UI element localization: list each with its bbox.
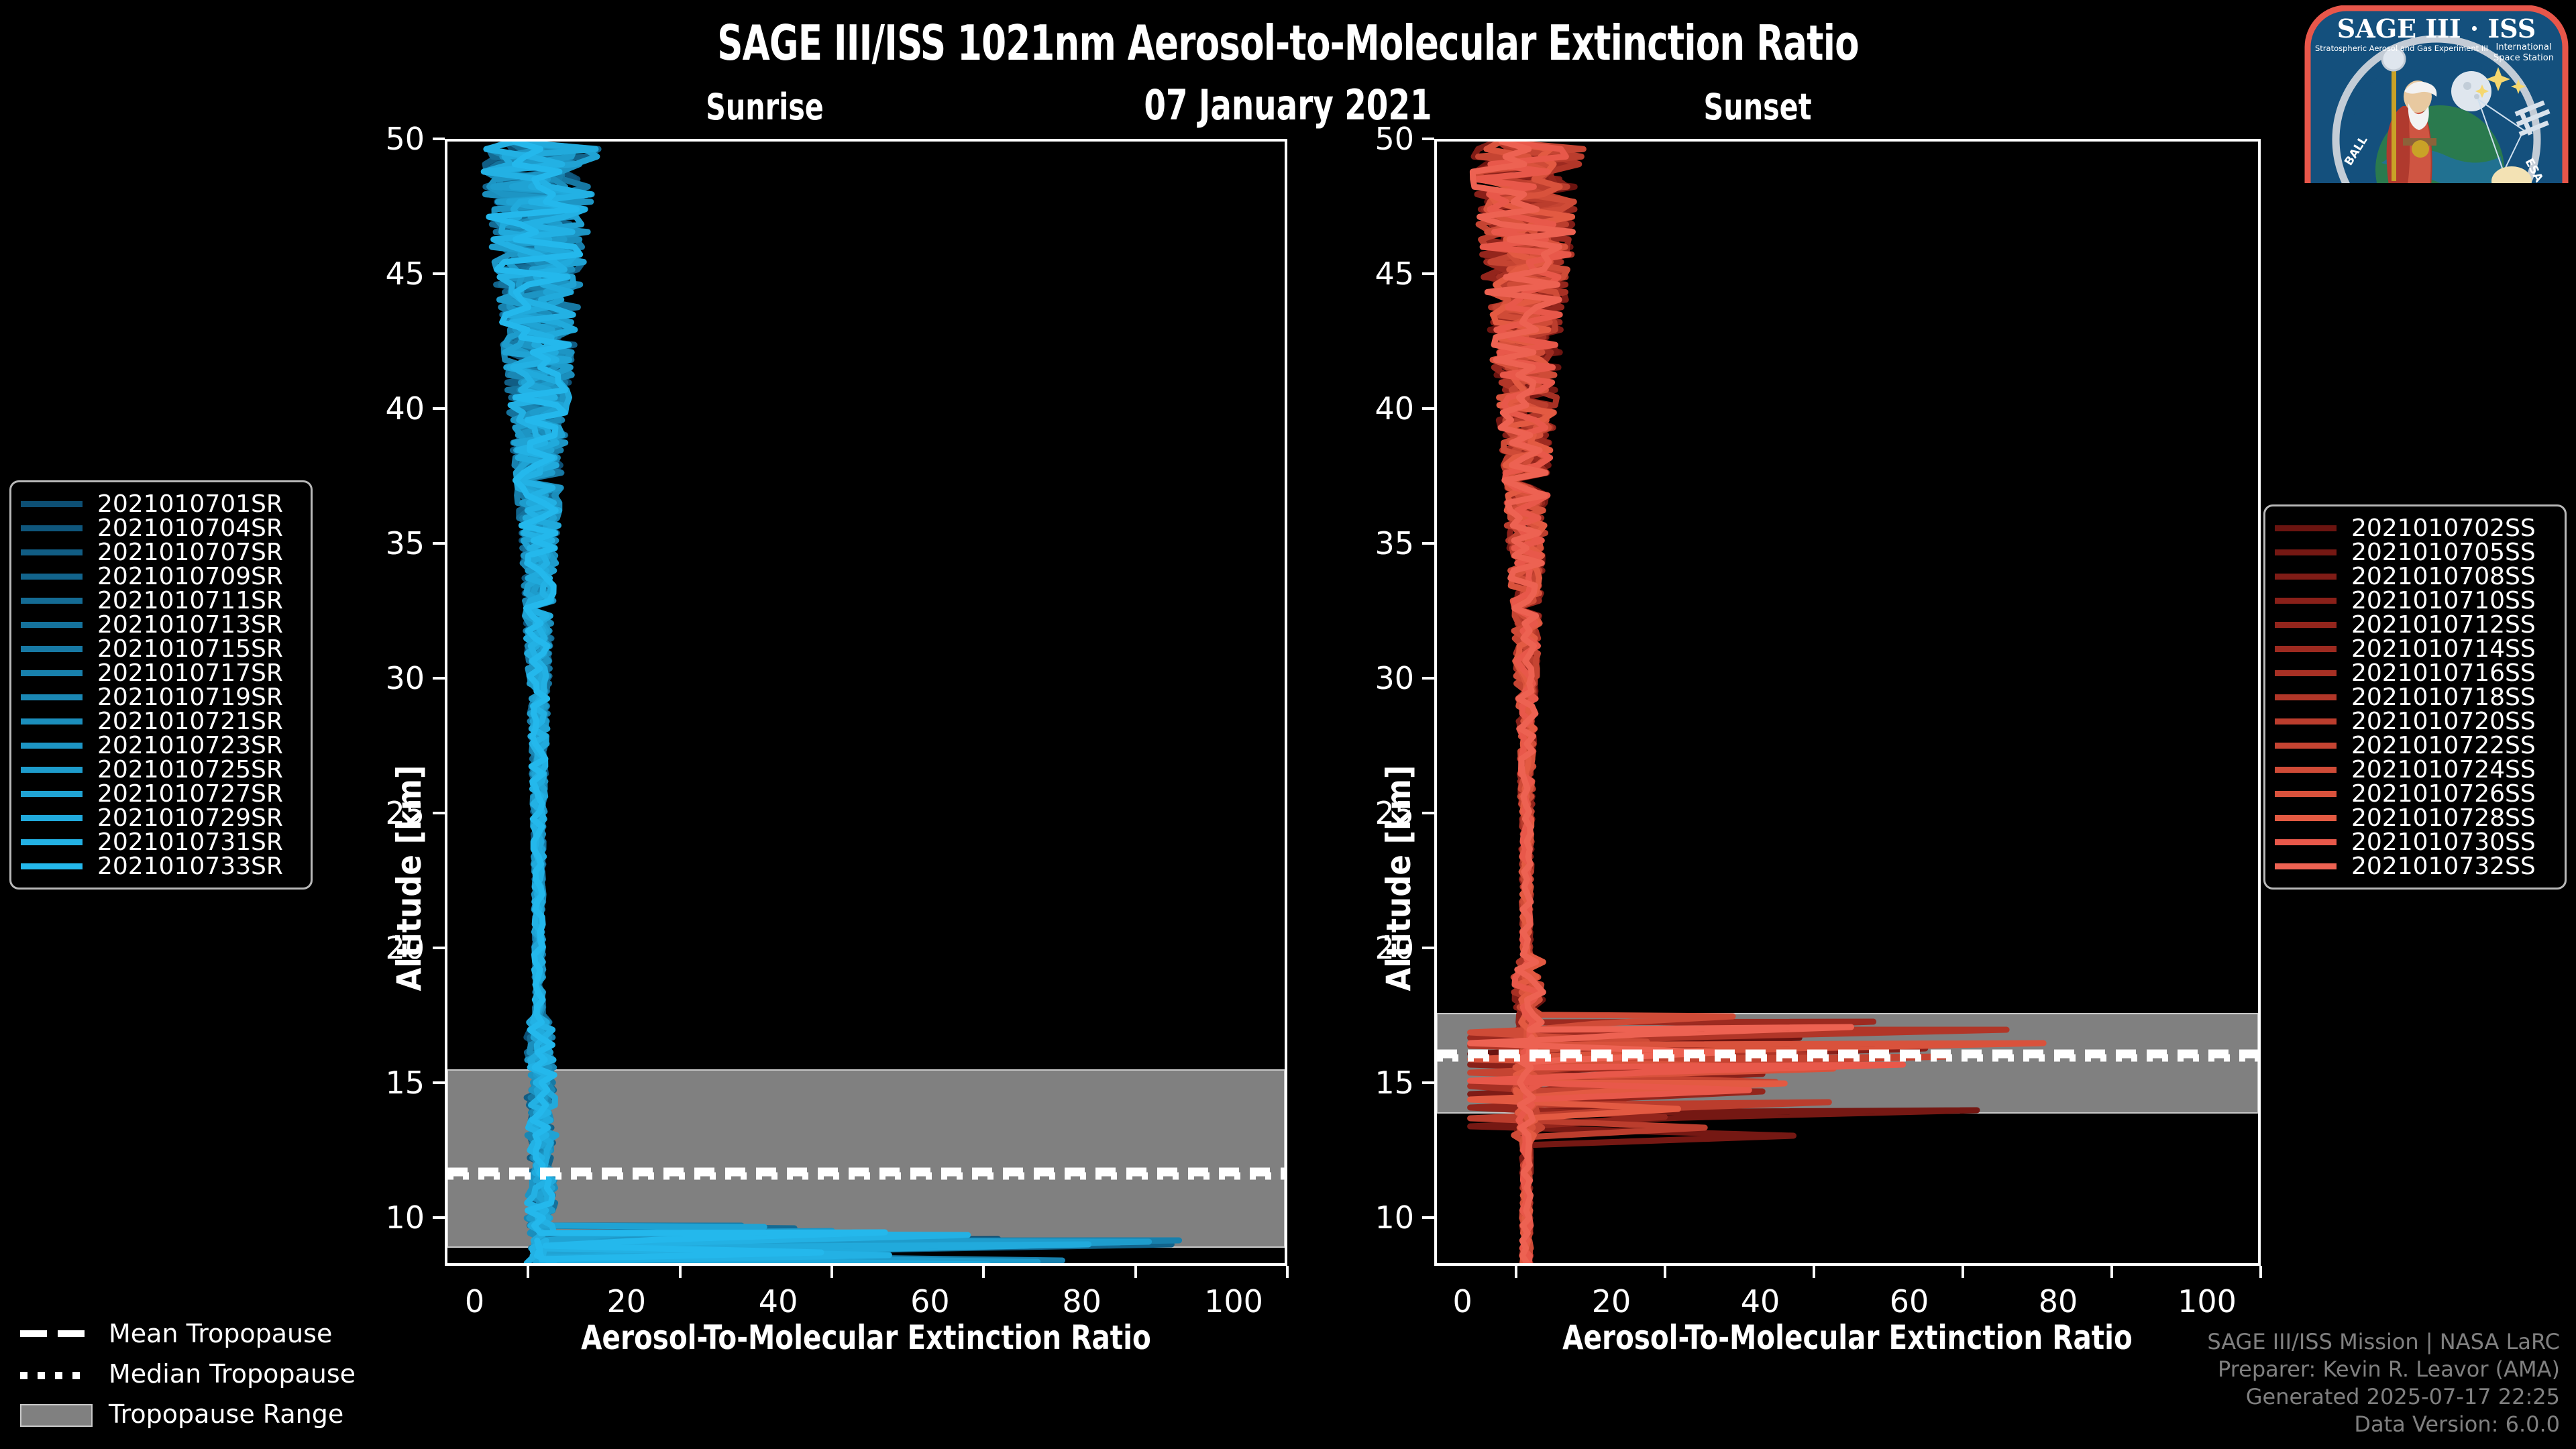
legend-item-label: 2021010701SR (97, 490, 283, 518)
sage-iii-iss-mission-patch-logo: SAGE III · ISS Stratospheric Aerosol and… (2302, 5, 2571, 183)
legend-color-swatch (2275, 598, 2337, 604)
y-tick-label-35: 35 (1327, 525, 1414, 561)
sunset-legend-item[interactable]: 2021010714SS (2275, 637, 2553, 661)
y-tickmark (1422, 677, 1434, 680)
y-tick-label-30: 30 (1327, 660, 1414, 696)
legend-color-swatch (21, 767, 83, 773)
credit-mission: SAGE III/ISS Mission | NASA LaRC (2207, 1328, 2560, 1356)
sunrise-legend-item[interactable]: 2021010725SR (21, 757, 299, 782)
sunset-legend-item[interactable]: 2021010732SS (2275, 854, 2553, 878)
sunset-legend-item[interactable]: 2021010720SS (2275, 709, 2553, 733)
tropopause-key: Mean Tropopause Median Tropopause Tropop… (20, 1313, 436, 1434)
credit-preparer: Preparer: Kevin R. Leavor (AMA) (2207, 1356, 2560, 1383)
y-tickmark (1422, 1216, 1434, 1219)
sunrise-legend-item[interactable]: 2021010711SR (21, 588, 299, 612)
legend-item-label: 2021010713SR (97, 611, 283, 639)
y-tickmark (433, 1081, 445, 1084)
legend-color-swatch (21, 863, 83, 869)
legend-item-label: 2021010709SR (97, 563, 283, 590)
tropopause-key-median: Median Tropopause (20, 1354, 436, 1394)
tropopause-key-range-label: Tropopause Range (109, 1399, 343, 1429)
svg-text:International: International (2496, 42, 2552, 52)
legend-color-swatch (2275, 574, 2337, 580)
sunrise-legend: 2021010701SR2021010704SR2021010707SR2021… (9, 480, 313, 890)
legend-color-swatch (2275, 718, 2337, 724)
range-swatch-icon (20, 1404, 93, 1424)
sunrise-legend-item[interactable]: 2021010715SR (21, 637, 299, 661)
y-tick-label-10: 10 (1327, 1199, 1414, 1236)
legend-color-swatch (2275, 549, 2337, 555)
legend-color-swatch (2275, 670, 2337, 676)
legend-color-swatch (21, 815, 83, 821)
x-tick-label-80: 80 (2004, 1283, 2112, 1320)
sunset-legend-item[interactable]: 2021010730SS (2275, 830, 2553, 854)
sunrise-legend-item[interactable]: 2021010721SR (21, 709, 299, 733)
x-tick-label-100: 100 (2153, 1283, 2261, 1320)
sunrise-x-axis-title: Aerosol-To-Molecular Extinction Ratio (487, 1318, 1245, 1357)
y-tickmark (1422, 947, 1434, 949)
sunrise-legend-item[interactable]: 2021010729SR (21, 806, 299, 830)
legend-color-swatch (21, 646, 83, 652)
legend-item-label: 2021010718SS (2351, 684, 2536, 711)
legend-item-label: 2021010727SR (97, 780, 283, 808)
y-tickmark (433, 677, 445, 680)
legend-item-label: 2021010716SS (2351, 659, 2536, 687)
legend-item-label: 2021010705SS (2351, 539, 2536, 566)
legend-item-label: 2021010715SR (97, 635, 283, 663)
x-tickmark (1962, 1266, 1964, 1278)
y-tickmark (433, 1216, 445, 1219)
sunset-legend-item[interactable]: 2021010710SS (2275, 588, 2553, 612)
dotted-line-icon (20, 1364, 93, 1384)
sunset-y-axis-title: Altitude [km] (1379, 710, 1418, 1046)
x-tickmark (1813, 1266, 1815, 1278)
legend-item-label: 2021010717SR (97, 659, 283, 687)
legend-item-label: 2021010708SS (2351, 563, 2536, 590)
y-tick-label-15: 15 (337, 1065, 425, 1101)
legend-color-swatch (21, 598, 83, 604)
legend-color-swatch (2275, 622, 2337, 628)
x-tickmark (1286, 1266, 1289, 1278)
sunrise-legend-item[interactable]: 2021010733SR (21, 854, 299, 878)
legend-color-swatch (21, 574, 83, 580)
legend-item-label: 2021010731SR (97, 828, 283, 856)
sunrise-legend-item[interactable]: 2021010707SR (21, 540, 299, 564)
credit-generated: Generated 2025-07-17 22:25 (2207, 1383, 2560, 1411)
sunrise-legend-item[interactable]: 2021010713SR (21, 612, 299, 637)
x-tickmark (1664, 1266, 1666, 1278)
x-tickmark (679, 1266, 682, 1278)
legend-color-swatch (2275, 743, 2337, 749)
legend-color-swatch (2275, 863, 2337, 869)
x-tick-label-40: 40 (724, 1283, 832, 1320)
sunrise-legend-item[interactable]: 2021010704SR (21, 516, 299, 540)
sunset-legend-item[interactable]: 2021010724SS (2275, 757, 2553, 782)
sunrise-legend-item[interactable]: 2021010719SR (21, 685, 299, 709)
sunset-legend-item[interactable]: 2021010705SS (2275, 540, 2553, 564)
svg-text:Space Station: Space Station (2493, 53, 2554, 63)
sunset-plot-area (1434, 139, 2261, 1266)
y-tickmark (1422, 138, 1434, 140)
legend-color-swatch (2275, 694, 2337, 700)
tropopause-key-range: Tropopause Range (20, 1394, 436, 1434)
y-tick-label-40: 40 (1327, 390, 1414, 427)
sunset-legend-item[interactable]: 2021010708SS (2275, 564, 2553, 588)
credits-block: SAGE III/ISS Mission | NASA LaRC Prepare… (2207, 1328, 2560, 1438)
legend-item-label: 2021010733SR (97, 853, 283, 880)
legend-color-swatch (21, 694, 83, 700)
legend-color-swatch (2275, 791, 2337, 797)
tropopause-range-band (447, 1070, 1285, 1247)
patch-subtitle: Stratospheric Aerosol and Gas Experiment… (2315, 44, 2488, 53)
legend-color-swatch (21, 525, 83, 531)
sunset-panel-title: Sunset (1609, 86, 1906, 128)
y-tick-label-35: 35 (337, 525, 425, 561)
legend-color-swatch (2275, 815, 2337, 821)
tropopause-key-mean: Mean Tropopause (20, 1313, 436, 1354)
sunrise-y-axis-title: Altitude [km] (390, 710, 429, 1046)
legend-item-label: 2021010730SS (2351, 828, 2536, 856)
legend-item-label: 2021010721SR (97, 708, 283, 735)
legend-color-swatch (2275, 525, 2337, 531)
legend-item-label: 2021010712SS (2351, 611, 2536, 639)
legend-item-label: 2021010722SS (2351, 732, 2536, 759)
x-tick-label-80: 80 (1028, 1283, 1136, 1320)
legend-color-swatch (21, 743, 83, 749)
x-tick-label-60: 60 (1856, 1283, 1963, 1320)
credit-data-version: Data Version: 6.0.0 (2207, 1411, 2560, 1438)
legend-item-label: 2021010711SR (97, 587, 283, 614)
legend-item-label: 2021010724SS (2351, 756, 2536, 784)
legend-item-label: 2021010714SS (2351, 635, 2536, 663)
y-tick-label-10: 10 (337, 1199, 425, 1236)
sunset-legend-item[interactable]: 2021010716SS (2275, 661, 2553, 685)
sunset-legend-item[interactable]: 2021010726SS (2275, 782, 2553, 806)
legend-item-label: 2021010729SR (97, 804, 283, 832)
x-tickmark (527, 1266, 529, 1278)
x-tick-label-0: 0 (1409, 1283, 1516, 1320)
sunrise-legend-item[interactable]: 2021010723SR (21, 733, 299, 757)
sunset-legend-item[interactable]: 2021010722SS (2275, 733, 2553, 757)
sunrise-legend-item[interactable]: 2021010717SR (21, 661, 299, 685)
x-tickmark (1134, 1266, 1137, 1278)
legend-color-swatch (21, 670, 83, 676)
legend-color-swatch (21, 839, 83, 845)
x-tick-label-20: 20 (573, 1283, 680, 1320)
x-tickmark (2110, 1266, 2113, 1278)
legend-color-swatch (21, 549, 83, 555)
legend-color-swatch (2275, 767, 2337, 773)
page-subtitle-date: 07 January 2021 (206, 80, 2370, 129)
sunrise-legend-item[interactable]: 2021010709SR (21, 564, 299, 588)
y-tick-label-45: 45 (337, 256, 425, 292)
x-tick-label-60: 60 (876, 1283, 983, 1320)
y-tick-label-50: 50 (1327, 121, 1414, 157)
y-tick-label-15: 15 (1327, 1065, 1414, 1101)
sunset-legend-item[interactable]: 2021010728SS (2275, 806, 2553, 830)
y-tick-label-45: 45 (1327, 256, 1414, 292)
sunset-x-axis-title: Aerosol-To-Molecular Extinction Ratio (1476, 1318, 2220, 1357)
y-tick-label-50: 50 (337, 121, 425, 157)
legend-item-label: 2021010723SR (97, 732, 283, 759)
y-tick-label-30: 30 (337, 660, 425, 696)
x-tickmark (2259, 1266, 2262, 1278)
legend-item-label: 2021010725SR (97, 756, 283, 784)
y-tickmark (1422, 407, 1434, 410)
legend-item-label: 2021010719SR (97, 684, 283, 711)
y-tickmark (1422, 1081, 1434, 1084)
x-tick-label-100: 100 (1180, 1283, 1287, 1320)
y-tick-label-40: 40 (337, 390, 425, 427)
legend-color-swatch (21, 501, 83, 507)
sunrise-panel-title: Sunrise (616, 86, 913, 128)
x-tickmark (830, 1266, 833, 1278)
dashed-line-icon (20, 1324, 93, 1344)
page-title: SAGE III/ISS 1021nm Aerosol-to-Molecular… (232, 15, 2345, 71)
legend-item-label: 2021010728SS (2351, 804, 2536, 832)
y-tickmark (433, 947, 445, 949)
legend-color-swatch (21, 718, 83, 724)
x-tick-label-40: 40 (1707, 1283, 1814, 1320)
sunrise-legend-item[interactable]: 2021010727SR (21, 782, 299, 806)
legend-color-swatch (2275, 839, 2337, 845)
y-tickmark (1422, 272, 1434, 275)
sunrise-legend-item[interactable]: 2021010731SR (21, 830, 299, 854)
legend-item-label: 2021010704SR (97, 515, 283, 542)
legend-item-label: 2021010720SS (2351, 708, 2536, 735)
legend-color-swatch (21, 791, 83, 797)
y-tickmark (1422, 542, 1434, 545)
y-tickmark (433, 138, 445, 140)
tropopause-key-median-label: Median Tropopause (109, 1359, 356, 1389)
legend-item-label: 2021010702SS (2351, 515, 2536, 542)
legend-item-label: 2021010732SS (2351, 853, 2536, 880)
y-tickmark (433, 407, 445, 410)
tropopause-key-mean-label: Mean Tropopause (109, 1319, 332, 1348)
sunset-legend-item[interactable]: 2021010702SS (2275, 516, 2553, 540)
sunrise-legend-item[interactable]: 2021010701SR (21, 492, 299, 516)
legend-color-swatch (2275, 646, 2337, 652)
legend-item-label: 2021010710SS (2351, 587, 2536, 614)
x-tickmark (1515, 1266, 1517, 1278)
y-tickmark (433, 542, 445, 545)
sunset-legend: 2021010702SS2021010705SS2021010708SS2021… (2263, 504, 2567, 890)
legend-item-label: 2021010726SS (2351, 780, 2536, 808)
x-tick-label-20: 20 (1558, 1283, 1665, 1320)
y-tickmark (433, 812, 445, 814)
patch-title: SAGE III · ISS (2337, 13, 2536, 44)
x-tick-label-0: 0 (421, 1283, 528, 1320)
legend-color-swatch (21, 622, 83, 628)
sunset-legend-item[interactable]: 2021010712SS (2275, 612, 2553, 637)
y-tickmark (1422, 812, 1434, 814)
sunrise-plot-area (445, 139, 1287, 1266)
x-tickmark (982, 1266, 985, 1278)
sunset-legend-item[interactable]: 2021010718SS (2275, 685, 2553, 709)
legend-item-label: 2021010707SR (97, 539, 283, 566)
y-tickmark (433, 272, 445, 275)
